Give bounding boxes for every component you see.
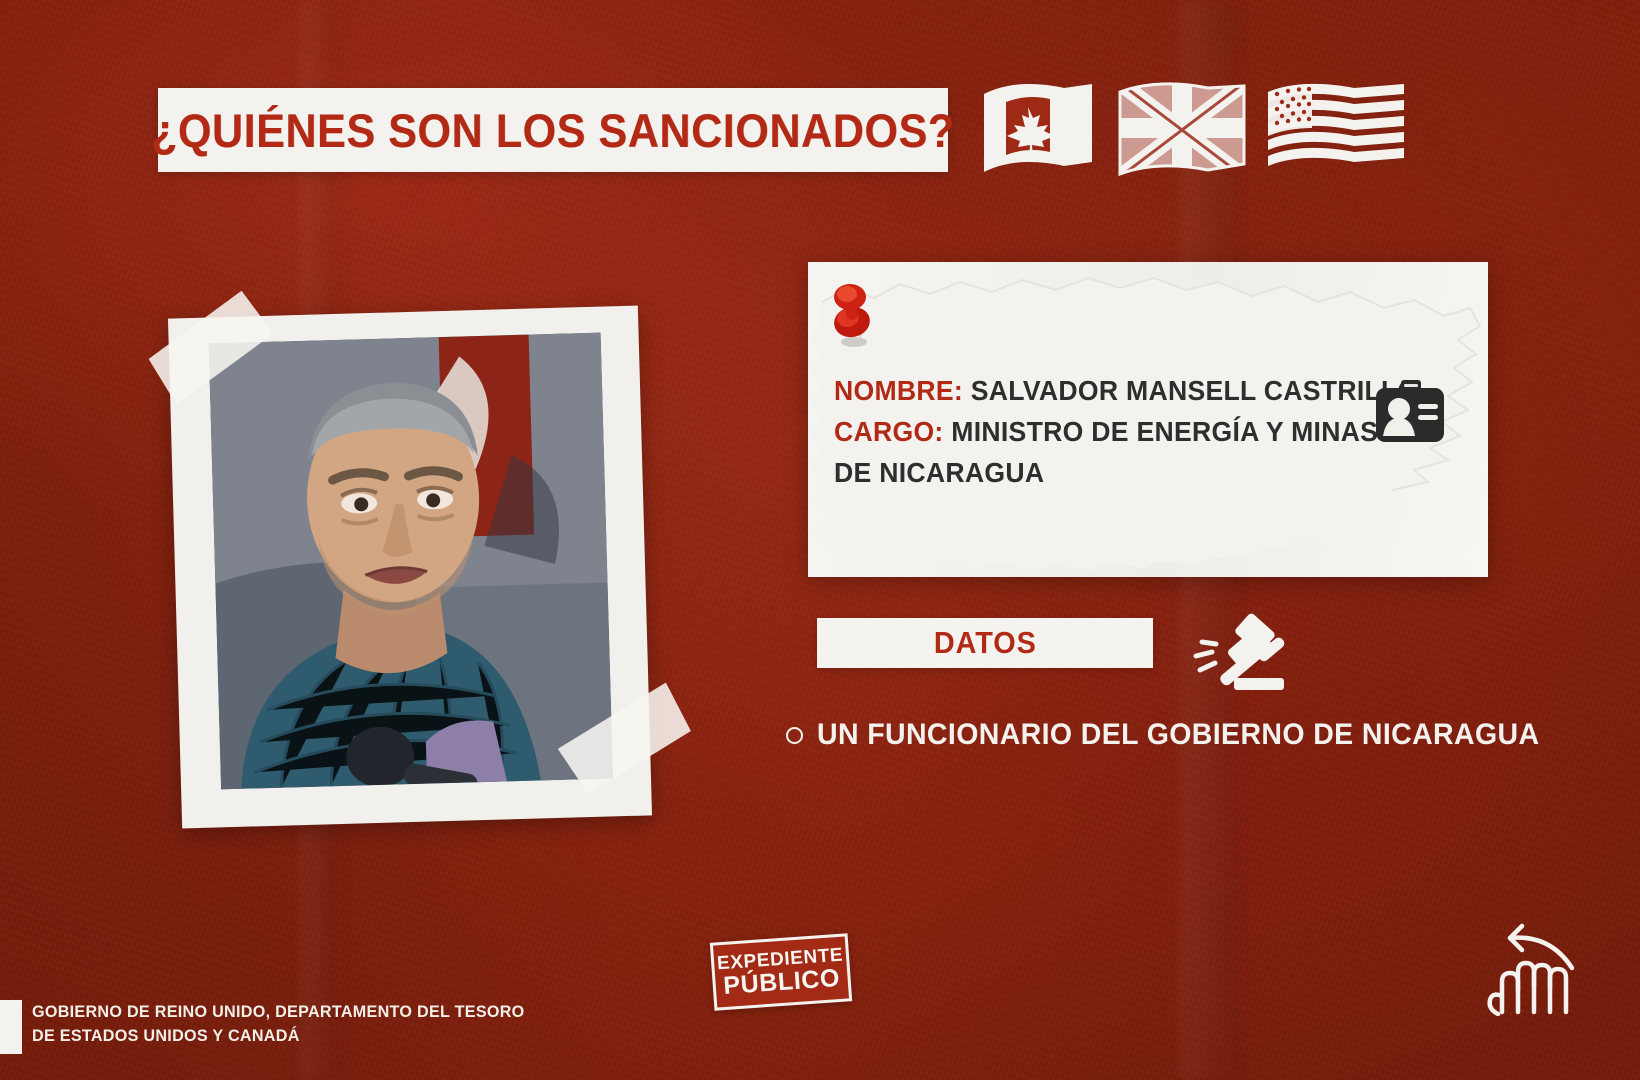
- united-kingdom-flag: [1116, 80, 1248, 185]
- footer-credit: GOBIERNO DE REINO UNIDO, DEPARTAMENTO DE…: [0, 1000, 550, 1054]
- bullet-circle-icon: [786, 727, 803, 744]
- logo-line-2: PÚBLICO: [723, 965, 841, 998]
- canada-flag: [980, 80, 1098, 185]
- list-item: UN FUNCIONARIO DEL GOBIERNO DE NICARAGUA: [786, 718, 1486, 752]
- subject-photo: [209, 333, 613, 790]
- swipe-left-hand-icon[interactable]: [1486, 916, 1590, 1016]
- page-title: ¿QUIÉNES SON LOS SANCIONADOS?: [151, 103, 955, 158]
- gavel-icon: [1186, 608, 1290, 690]
- footer-line-2: DE ESTADOS UNIDOS Y CANADÁ: [32, 1024, 525, 1048]
- expediente-publico-logo: EXPEDIENTE PÚBLICO: [710, 933, 852, 1010]
- footer-accent-bar: [0, 1000, 22, 1054]
- subject-fields: NOMBRE: SALVADOR MANSELL CASTRILLO CARGO…: [834, 370, 1314, 493]
- field-nombre: NOMBRE: SALVADOR MANSELL CASTRILLO: [834, 370, 1290, 411]
- pushpin-icon: [822, 280, 884, 350]
- field-cargo-continuation: DE NICARAGUA: [834, 452, 1290, 493]
- field-nombre-label: NOMBRE:: [834, 375, 963, 406]
- field-cargo-label: CARGO:: [834, 416, 944, 447]
- page-title-banner: ¿QUIÉNES SON LOS SANCIONADOS?: [158, 88, 948, 172]
- list-item-label: UN FUNCIONARIO DEL GOBIERNO DE NICARAGUA: [817, 718, 1539, 752]
- infographic-slide: ¿QUIÉNES SON LOS SANCIONADOS?: [0, 0, 1640, 1080]
- datos-list: UN FUNCIONARIO DEL GOBIERNO DE NICARAGUA: [786, 718, 1486, 752]
- sanctioning-countries-flags: [980, 78, 1410, 186]
- field-cargo: CARGO: MINISTRO DE ENERGÍA Y MINAS: [834, 411, 1290, 452]
- field-nombre-value: SALVADOR MANSELL CASTRILLO: [963, 375, 1418, 406]
- footer-text: GOBIERNO DE REINO UNIDO, DEPARTAMENTO DE…: [32, 1000, 525, 1048]
- subject-info-card: NOMBRE: SALVADOR MANSELL CASTRILLO CARGO…: [808, 262, 1488, 577]
- datos-label: DATOS: [934, 625, 1037, 661]
- id-badge-icon: [1374, 380, 1446, 444]
- field-cargo-value: MINISTRO DE ENERGÍA Y MINAS: [944, 416, 1379, 447]
- footer-line-1: GOBIERNO DE REINO UNIDO, DEPARTAMENTO DE…: [32, 1000, 525, 1024]
- united-states-flag: [1266, 80, 1408, 185]
- datos-banner: DATOS: [817, 618, 1153, 668]
